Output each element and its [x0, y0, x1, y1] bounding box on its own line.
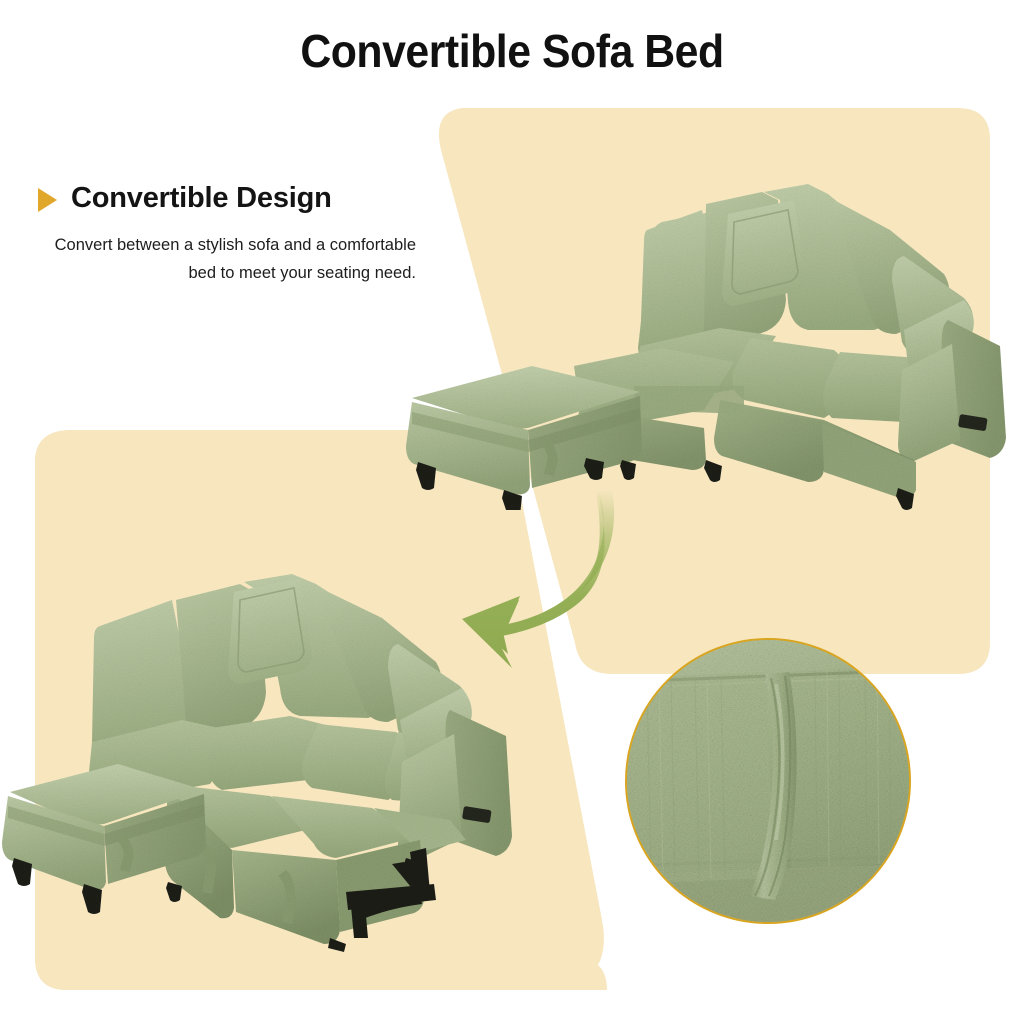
feature-heading: Convertible Design: [71, 182, 332, 215]
bed-mode-body: [2, 574, 512, 952]
bed-mode-image: [0, 552, 580, 952]
page-title: Convertible Sofa Bed: [36, 24, 988, 78]
feature-heading-row: Convertible Design: [38, 182, 420, 215]
panel-over-circle: [600, 610, 940, 700]
triangle-right-icon: [38, 188, 57, 212]
sofa-mode-body: [406, 184, 1006, 510]
feature-description: Convert between a stylish sofa and a com…: [38, 231, 420, 288]
infographic-canvas: Convertible Sofa Bed Convertible Design …: [0, 0, 1024, 1024]
sofa-mode-image: [404, 170, 1024, 510]
feature-callout: Convertible Design Convert between a sty…: [38, 182, 420, 288]
